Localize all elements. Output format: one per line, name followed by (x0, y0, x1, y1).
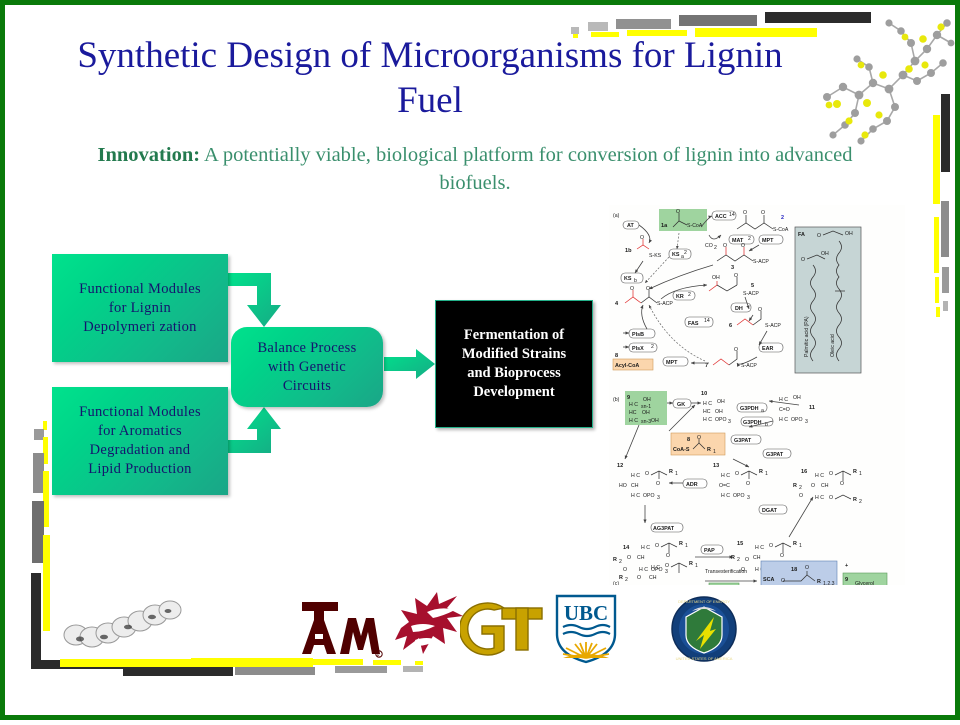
svg-text:CH: CH (631, 483, 639, 489)
svg-text:a: a (761, 408, 764, 414)
svg-text:3: 3 (747, 495, 750, 501)
svg-text:+: + (845, 563, 848, 569)
svg-text:R: R (689, 561, 693, 567)
svg-text:H C: H C (721, 493, 730, 499)
svg-text:CoA-S: CoA-S (673, 447, 690, 453)
svg-text:G3PDH: G3PDH (740, 406, 759, 412)
svg-text:1: 1 (695, 563, 698, 569)
svg-text:R: R (669, 469, 673, 475)
svg-text:O: O (637, 575, 641, 581)
svg-text:FAS: FAS (688, 321, 699, 327)
svg-text:S-KS: S-KS (649, 253, 662, 259)
svg-text:O: O (741, 243, 745, 249)
svg-text:1: 1 (799, 543, 802, 549)
flow-box-label: Functional Modules for Lignin Depolymeri… (79, 280, 201, 337)
svg-text:10: 10 (701, 391, 707, 397)
decor-vbar-yellow (936, 307, 940, 317)
svg-text:UBC: UBC (564, 601, 608, 625)
svg-text:R: R (817, 579, 821, 585)
svg-text:Transesterification: Transesterification (705, 569, 747, 575)
svg-text:H C: H C (755, 545, 764, 551)
decor-dash (679, 15, 757, 26)
svg-text:O: O (780, 553, 784, 559)
svg-text:OH: OH (845, 231, 853, 237)
page-title: Synthetic Design of Microorganisms for L… (65, 33, 795, 123)
svg-text:CH: CH (637, 555, 645, 561)
svg-text:H C: H C (779, 397, 788, 403)
svg-text:14: 14 (623, 545, 630, 551)
svg-text:1: 1 (685, 543, 688, 549)
svg-text:O=C: O=C (719, 483, 730, 489)
svg-text:ADR: ADR (686, 482, 698, 488)
svg-text:3: 3 (731, 265, 734, 271)
logo-georgia-tech (460, 600, 544, 658)
svg-text:SCA: SCA (763, 577, 774, 583)
decor-vbar-yellow (934, 217, 939, 273)
svg-text:sn-3: sn-3 (641, 419, 651, 425)
svg-text:3: 3 (665, 569, 668, 575)
svg-text:R: R (853, 469, 857, 475)
svg-text:O: O (840, 481, 844, 487)
svg-text:O: O (645, 471, 649, 477)
svg-text:KS: KS (624, 276, 632, 282)
svg-text:H C: H C (629, 418, 638, 424)
svg-text:O: O (811, 483, 815, 489)
svg-text:R: R (759, 469, 763, 475)
logo-texas-am: R (300, 598, 384, 660)
svg-text:H C: H C (721, 473, 730, 479)
svg-text:R: R (853, 497, 857, 503)
subtitle: Innovation: A potentially viable, biolog… (75, 141, 875, 197)
subtitle-body: A potentially viable, biological platfor… (200, 144, 852, 194)
svg-text:R: R (793, 541, 797, 547)
svg-text:O: O (801, 257, 805, 263)
svg-text:DH: DH (735, 306, 743, 312)
svg-text:OPO: OPO (643, 493, 655, 499)
svg-text:(c): (c) (613, 581, 619, 585)
svg-text:O: O (676, 209, 680, 215)
svg-text:S-ACP: S-ACP (753, 259, 769, 265)
svg-text:O: O (630, 286, 634, 292)
svg-text:3: 3 (657, 495, 660, 501)
flow-box-lignin-depolymerization[interactable]: Functional Modules for Lignin Depolymeri… (52, 254, 228, 362)
svg-text:2: 2 (651, 344, 654, 350)
arrow-lignin-to-balance (228, 273, 281, 327)
svg-text:G3PDH: G3PDH (743, 420, 762, 426)
svg-text:1: 1 (765, 471, 768, 477)
svg-text:O: O (769, 543, 773, 549)
decor-vbar (941, 201, 949, 257)
svg-text:GK: GK (677, 402, 685, 408)
svg-text:2: 2 (799, 485, 802, 491)
svg-text:O: O (665, 563, 669, 569)
svg-text:13: 13 (713, 463, 719, 469)
svg-text:MPT: MPT (762, 238, 774, 244)
svg-text:ACC: ACC (715, 214, 727, 220)
svg-text:S-ACP: S-ACP (741, 363, 757, 369)
svg-text:OH: OH (793, 395, 801, 401)
svg-text:Palmitic acid (PA): Palmitic acid (PA) (804, 316, 810, 357)
svg-text:O: O (655, 543, 659, 549)
decor-vbar (942, 267, 949, 293)
svg-text:S-ACP: S-ACP (743, 291, 759, 297)
svg-text:FA: FA (798, 232, 805, 238)
svg-text:O: O (656, 481, 660, 487)
svg-text:4: 4 (615, 301, 619, 307)
svg-text:O: O (805, 565, 809, 571)
svg-text:O: O (734, 347, 738, 353)
flow-box-label: Fermentation of Modified Strains and Bio… (462, 326, 566, 402)
svg-text:OH: OH (717, 399, 725, 405)
subtitle-lead: Innovation: (98, 144, 201, 166)
svg-text:2: 2 (748, 236, 751, 242)
svg-text:H C: H C (815, 495, 824, 501)
lignin-molecule-model (815, 9, 955, 159)
svg-text:18: 18 (791, 567, 797, 573)
svg-text:CH: CH (649, 575, 657, 581)
svg-text:O: O (734, 273, 738, 279)
svg-text:R: R (377, 652, 380, 657)
svg-text:16: 16 (801, 469, 807, 475)
svg-text:O: O (627, 555, 631, 561)
svg-text:O: O (799, 493, 803, 499)
logo-ubc: UBC (553, 592, 619, 664)
decor-dash (616, 19, 671, 29)
svg-text:(b): (b) (613, 397, 620, 403)
svg-text:1a: 1a (661, 223, 668, 229)
flow-box-label: Functional Modules for Aromatics Degrada… (79, 403, 201, 479)
svg-text:9: 9 (627, 395, 630, 401)
svg-text:H C: H C (641, 545, 650, 551)
biosynthesis-pathway-figure: .lb{font-family:"Liberation Sans",sans-s… (609, 205, 905, 585)
arrow-balance-to-ferment (384, 349, 435, 379)
svg-text:O: O (623, 567, 627, 573)
svg-text:KR: KR (676, 294, 684, 300)
flow-box-label: Balance Process with Genetic Circuits (257, 339, 356, 396)
svg-text:2: 2 (737, 557, 740, 563)
svg-text:OH: OH (712, 275, 720, 281)
svg-text:OPO: OPO (715, 417, 727, 423)
svg-text:2: 2 (859, 499, 862, 505)
svg-text:O: O (746, 481, 750, 487)
svg-text:R: R (679, 541, 683, 547)
decor-vbar (943, 301, 948, 311)
svg-text:O: O (745, 557, 749, 563)
decor-vbar-yellow (935, 277, 939, 303)
svg-text:S-CoA: S-CoA (773, 227, 789, 233)
svg-text:3: 3 (728, 419, 731, 425)
svg-text:2: 2 (781, 215, 784, 221)
svg-text:S-CoA: S-CoA (687, 223, 703, 229)
svg-text:b: b (634, 278, 637, 284)
svg-text:8: 8 (615, 353, 618, 359)
svg-text:1: 1 (675, 471, 678, 477)
svg-text:AG3PAT: AG3PAT (653, 526, 675, 532)
svg-text:KS: KS (672, 252, 680, 258)
svg-text:OPO: OPO (791, 417, 803, 423)
svg-text:2: 2 (714, 245, 717, 251)
svg-text:CO: CO (705, 243, 713, 249)
svg-text:OH: OH (715, 409, 723, 415)
svg-text:UNITED STATES OF AMERICA: UNITED STATES OF AMERICA (676, 656, 733, 661)
svg-text:R: R (793, 483, 797, 489)
svg-text:PlsX: PlsX (632, 346, 644, 352)
svg-text:14: 14 (729, 212, 735, 218)
svg-text:AT: AT (627, 223, 634, 229)
svg-text:HC: HC (629, 410, 637, 416)
svg-text:HO: HO (619, 483, 627, 489)
svg-text:1: 1 (859, 471, 862, 477)
svg-text:DGAT: DGAT (762, 508, 778, 514)
flow-box-aromatics-degradation[interactable]: Functional Modules for Aromatics Degrada… (52, 387, 228, 495)
svg-text:Glycerol: Glycerol (855, 581, 874, 585)
svg-text:R: R (707, 447, 711, 453)
svg-text:6: 6 (729, 323, 732, 329)
flow-box-balance-process[interactable]: Balance Process with Genetic Circuits (231, 327, 383, 407)
svg-text:2: 2 (625, 577, 628, 583)
svg-text:PAP: PAP (704, 548, 715, 554)
svg-text:9: 9 (845, 577, 848, 583)
logo-doe-seal: DEPARTMENT OF ENERGY UNITED STATES OF AM… (670, 595, 738, 663)
svg-text:R: R (613, 557, 617, 563)
svg-text:2: 2 (688, 292, 691, 298)
svg-text:O: O (781, 578, 785, 584)
svg-text:G3PAT: G3PAT (766, 452, 784, 458)
svg-text:CH: CH (821, 483, 829, 489)
svg-text:15: 15 (737, 541, 743, 547)
svg-text:OH: OH (643, 397, 651, 403)
svg-text:2: 2 (684, 250, 687, 256)
svg-text:H C: H C (639, 567, 648, 573)
svg-text:11: 11 (809, 405, 815, 411)
svg-text:OH: OH (821, 251, 829, 257)
svg-text:H C: H C (651, 565, 660, 571)
slide-canvas: Synthetic Design of Microorganisms for L… (0, 0, 960, 720)
svg-text:1b: 1b (625, 248, 632, 254)
svg-text:1: 1 (713, 449, 716, 455)
flow-box-fermentation[interactable]: Fermentation of Modified Strains and Bio… (435, 300, 593, 428)
svg-text:O: O (758, 307, 762, 313)
svg-text:H C: H C (779, 417, 788, 423)
arrow-aromatics-to-balance (228, 407, 281, 453)
svg-text:C=O: C=O (779, 407, 790, 413)
svg-text:1,2,3: 1,2,3 (823, 581, 835, 585)
svg-text:HC: HC (703, 409, 711, 415)
svg-text:3: 3 (805, 419, 808, 425)
svg-text:OH: OH (642, 410, 650, 416)
sponsor-logos: R UBC (5, 590, 960, 670)
svg-text:O: O (666, 553, 670, 559)
svg-text:H C: H C (631, 473, 640, 479)
svg-text:O: O (829, 471, 833, 477)
svg-text:O: O (735, 471, 739, 477)
svg-text:O: O (761, 210, 765, 216)
svg-text:O: O (640, 235, 644, 241)
svg-text:5: 5 (751, 283, 754, 289)
svg-text:7: 7 (705, 363, 708, 369)
svg-text:DEPARTMENT OF ENERGY: DEPARTMENT OF ENERGY (678, 599, 730, 604)
svg-text:12: 12 (617, 463, 623, 469)
svg-text:PlsB: PlsB (632, 332, 644, 338)
svg-text:EAR: EAR (762, 346, 773, 352)
svg-text:G3PAT: G3PAT (734, 438, 752, 444)
svg-text:R: R (731, 555, 735, 561)
svg-text:R: R (619, 575, 623, 581)
svg-text:MPT: MPT (666, 360, 678, 366)
svg-text:CH: CH (753, 555, 761, 561)
svg-text:S-ACP: S-ACP (657, 301, 673, 307)
svg-text:14: 14 (704, 318, 710, 324)
svg-text:(a): (a) (613, 213, 620, 219)
decor-dash (588, 22, 608, 31)
svg-text:O: O (723, 243, 727, 249)
svg-text:O: O (743, 210, 747, 216)
svg-text:8: 8 (687, 437, 690, 443)
svg-text:Oleic acid: Oleic acid (830, 334, 836, 357)
svg-text:O: O (817, 233, 821, 239)
svg-text:H C: H C (703, 417, 712, 423)
svg-text:S-ACP: S-ACP (765, 323, 781, 329)
svg-text:Acyl-CoA: Acyl-CoA (615, 363, 639, 369)
svg-text:O: O (829, 495, 833, 501)
svg-text:H C: H C (703, 401, 712, 407)
svg-text:H C: H C (631, 493, 640, 499)
svg-text:OH: OH (651, 418, 659, 424)
svg-text:H C: H C (629, 402, 638, 408)
svg-text:OPO: OPO (733, 493, 745, 499)
svg-text:H C: H C (815, 473, 824, 479)
